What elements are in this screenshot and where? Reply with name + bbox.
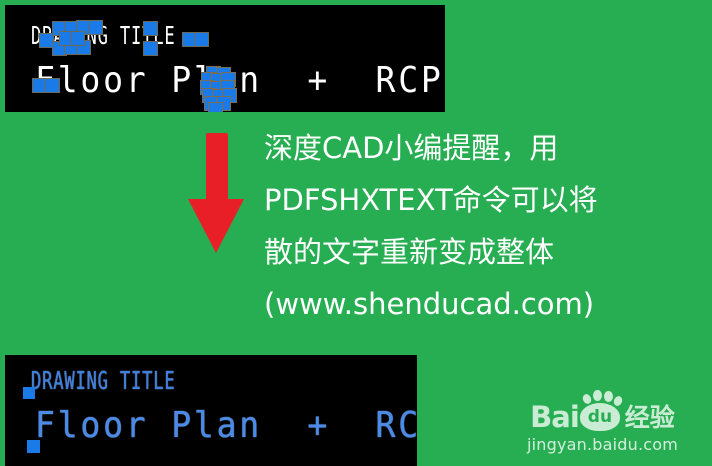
watermark-brand-latin: Bai <box>530 402 579 432</box>
cad-viewport-bottom[interactable]: DRAWING TITLE Floor Plan + RCP <box>5 355 417 466</box>
selection-grip[interactable] <box>209 103 222 112</box>
selection-grip[interactable] <box>33 79 46 92</box>
selection-grip[interactable] <box>71 32 84 45</box>
arrow-shaft <box>206 133 228 203</box>
selection-grip[interactable] <box>46 79 59 92</box>
watermark-logo-row: Bai du 经验 <box>500 398 705 432</box>
selection-grip[interactable] <box>89 21 102 34</box>
paw-icon: du <box>580 401 620 432</box>
caption-line-2: PDFSHXTEXT命令可以将 <box>264 174 712 226</box>
selection-grip[interactable] <box>23 387 35 399</box>
bottom-panel-title-text[interactable]: DRAWING TITLE <box>31 367 175 396</box>
baidu-jingyan-watermark: Bai du 经验 jingyan.baidu.com <box>500 398 705 454</box>
down-arrow-icon <box>188 133 244 253</box>
watermark-brand-cn: 经验 <box>625 403 675 432</box>
caption-line-3: 散的文字重新变成整体 <box>264 226 712 278</box>
selection-grip[interactable] <box>40 34 53 47</box>
paw-pad <box>604 391 613 402</box>
bottom-panel-subtitle-text[interactable]: Floor Plan + RCP <box>35 405 417 446</box>
watermark-url: jingyan.baidu.com <box>500 435 705 454</box>
selection-grip[interactable] <box>27 440 40 453</box>
selection-grip[interactable] <box>144 22 157 35</box>
arrow-head <box>188 199 244 253</box>
paw-pad <box>593 390 602 401</box>
caption-line-1: 深度CAD小编提醒，用 <box>264 122 712 174</box>
selection-grip[interactable] <box>144 42 157 55</box>
top-panel-subtitle-text[interactable]: Floor Plan + RCP <box>35 60 444 101</box>
cad-viewport-top[interactable]: DRAWING TITLE Floor Plan + RCP <box>5 5 445 112</box>
watermark-brand-inner: du <box>588 408 612 427</box>
paw-pad <box>612 395 623 407</box>
caption-line-4: (www.shenducad.com) <box>264 278 712 330</box>
selection-grip[interactable] <box>195 33 208 46</box>
caption-block: 深度CAD小编提醒，用 PDFSHXTEXT命令可以将 散的文字重新变成整体 (… <box>264 122 712 330</box>
